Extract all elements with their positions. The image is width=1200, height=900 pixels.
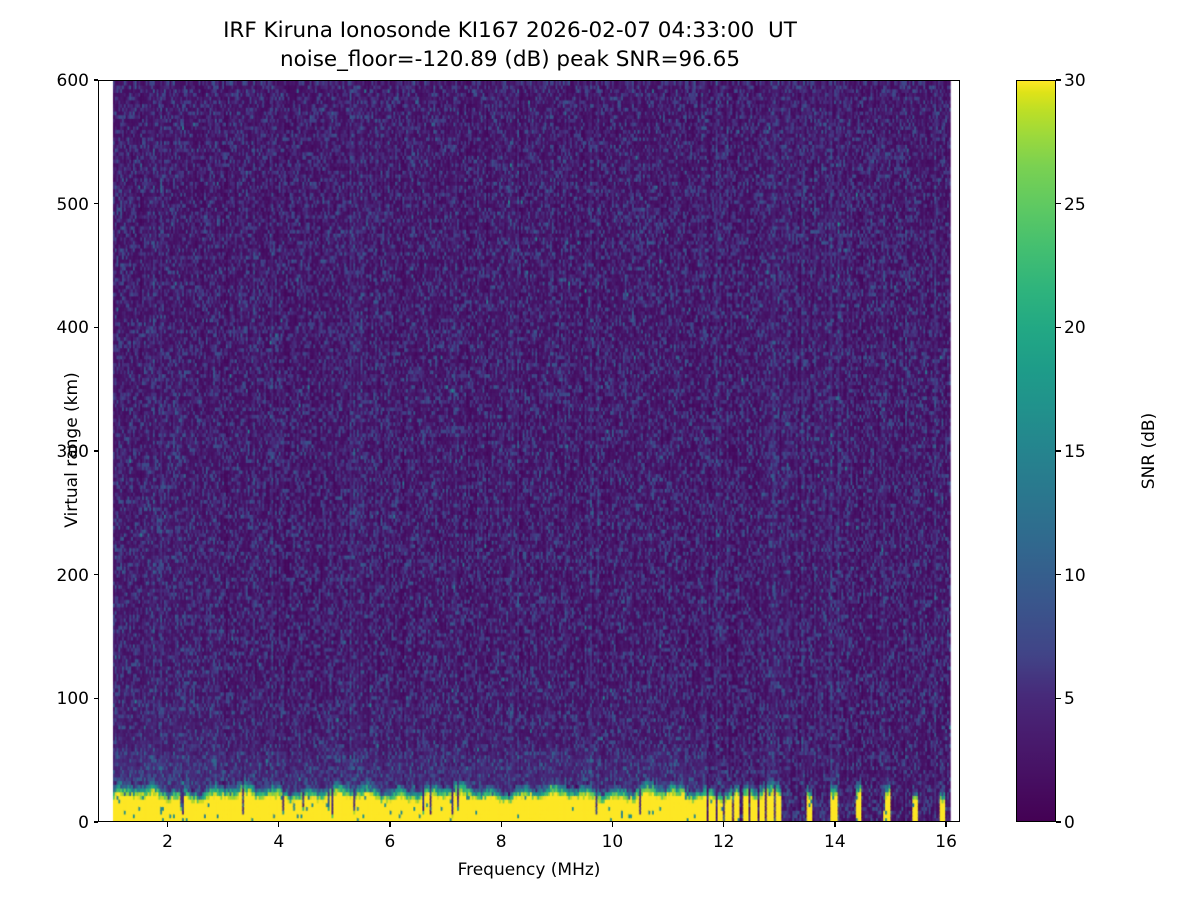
colorbar-tick-label: 20 — [1064, 318, 1154, 338]
colorbar-tick-label: 15 — [1064, 442, 1154, 462]
x-tick-label: 16 — [886, 832, 1006, 852]
y-tick-mark — [94, 327, 99, 328]
colorbar-tick-label: 30 — [1064, 71, 1154, 91]
x-tick-label: 4 — [219, 832, 339, 852]
y-tick-mark — [94, 698, 99, 699]
colorbar-tick-mark — [1056, 79, 1061, 80]
colorbar-gradient — [1016, 80, 1056, 822]
x-tick-label: 10 — [552, 832, 672, 852]
colorbar-tick-label: 25 — [1064, 195, 1154, 215]
y-tick-mark — [94, 821, 99, 822]
x-tick-mark — [389, 822, 390, 827]
ionogram-heatmap — [99, 81, 959, 821]
plot-area — [98, 80, 960, 822]
x-tick-label: 6 — [330, 832, 450, 852]
x-tick-mark — [612, 822, 613, 827]
x-tick-mark — [501, 822, 502, 827]
x-tick-label: 14 — [775, 832, 895, 852]
y-tick-label: 500 — [0, 195, 89, 215]
colorbar-tick-mark — [1056, 821, 1061, 822]
colorbar-tick-mark — [1056, 327, 1061, 328]
y-tick-label: 100 — [0, 689, 89, 709]
y-tick-mark — [94, 574, 99, 575]
x-tick-mark — [723, 822, 724, 827]
chart-title: IRF Kiruna Ionosonde KI167 2026-02-07 04… — [0, 16, 1020, 74]
y-tick-mark — [94, 79, 99, 80]
y-tick-mark — [94, 450, 99, 451]
x-tick-mark — [167, 822, 168, 827]
y-tick-mark — [94, 203, 99, 204]
colorbar-tick-label: 0 — [1064, 813, 1154, 833]
colorbar-tick-label: 5 — [1064, 689, 1154, 709]
colorbar: SNR (dB) 302520151050 — [1016, 80, 1056, 822]
x-tick-mark — [945, 822, 946, 827]
x-tick-label: 2 — [108, 832, 228, 852]
y-tick-label: 0 — [0, 813, 89, 833]
x-tick-mark — [278, 822, 279, 827]
colorbar-tick-mark — [1056, 203, 1061, 204]
colorbar-tick-mark — [1056, 574, 1061, 575]
x-tick-mark — [834, 822, 835, 827]
colorbar-tick-mark — [1056, 698, 1061, 699]
colorbar-tick-mark — [1056, 450, 1061, 451]
chart-title-line-2: noise_floor=-120.89 (dB) peak SNR=96.65 — [0, 45, 1020, 74]
x-tick-label: 8 — [441, 832, 561, 852]
x-tick-label: 12 — [664, 832, 784, 852]
y-tick-label: 600 — [0, 71, 89, 91]
y-axis-label: Virtual range (km) — [62, 300, 82, 600]
colorbar-tick-label: 10 — [1064, 566, 1154, 586]
chart-title-line-1: IRF Kiruna Ionosonde KI167 2026-02-07 04… — [0, 16, 1020, 45]
ionogram-figure: IRF Kiruna Ionosonde KI167 2026-02-07 04… — [0, 0, 1200, 900]
x-axis-label: Frequency (MHz) — [98, 860, 960, 880]
